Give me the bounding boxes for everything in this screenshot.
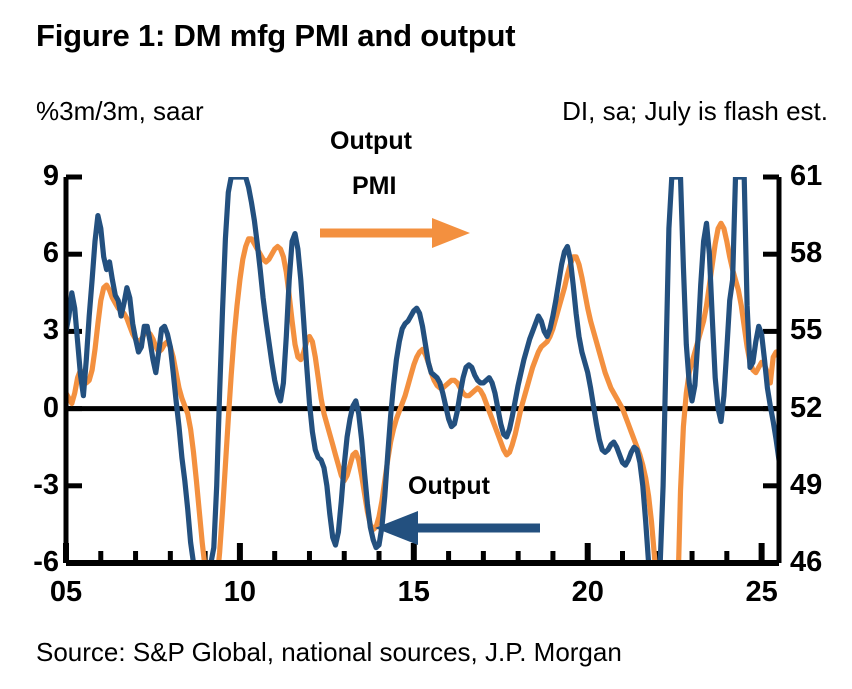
x-axis-tick-label: 20 (548, 578, 628, 607)
x-axis-tick-label: 15 (374, 578, 454, 607)
y2-axis-tick-label: 58 (790, 239, 822, 268)
x-axis-tick-label: 05 (26, 578, 106, 607)
y-axis-tick-label: 6 (43, 239, 59, 268)
y-axis-tick-label: 9 (43, 162, 59, 191)
y-axis-tick-label: 3 (43, 316, 59, 345)
x-axis-tick-label: 10 (200, 578, 280, 607)
y-axis-tick-label: -6 (33, 548, 59, 577)
y-axis-tick-label: -3 (33, 471, 59, 500)
x-axis-tick-label: 25 (722, 578, 802, 607)
y2-axis-tick-label: 46 (790, 548, 822, 577)
y-axis-tick-label: 0 (43, 394, 59, 423)
figure-1-chart: Figure 1: DM mfg PMI and output %3m/3m, … (0, 0, 852, 689)
y2-axis-tick-label: 52 (790, 394, 822, 423)
y2-axis-tick-label: 55 (790, 316, 822, 345)
y2-axis-tick-label: 61 (790, 162, 822, 191)
arrow-left-icon (375, 511, 540, 545)
arrow-right-icon (320, 218, 470, 248)
y2-axis-tick-label: 49 (790, 471, 822, 500)
